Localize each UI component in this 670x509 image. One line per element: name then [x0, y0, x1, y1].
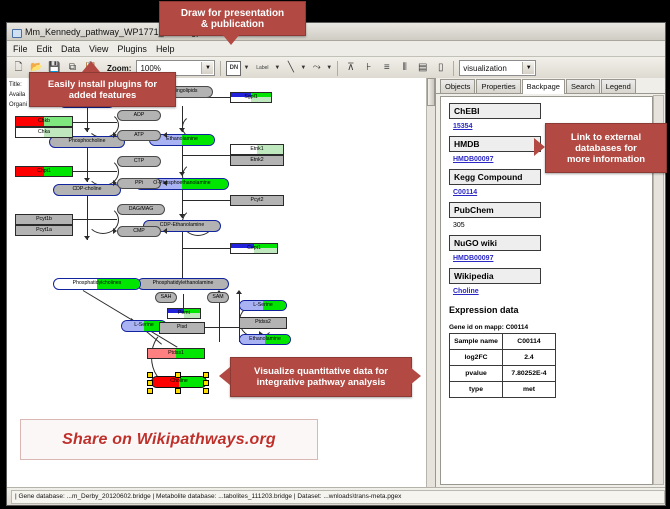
node-gene-pcyt1a[interactable]: Pcyt1a [15, 225, 73, 236]
callout-plugins-line2: added features [69, 90, 137, 101]
edge-pemt-catalysis [183, 294, 184, 308]
stack-center-glyph: ≡ [379, 61, 394, 76]
db-header-pubchem: PubChem [449, 202, 541, 218]
node-gene-pisd[interactable]: Pisd [159, 322, 205, 334]
callout-link-line1: Link to external [571, 132, 641, 143]
node-label: Ethanolamine [166, 137, 198, 142]
node-label: Chka [38, 130, 50, 135]
label-glyph: Label [252, 61, 272, 76]
callout-plugins-pointer [82, 61, 100, 72]
callout-draw-line2: & publication [201, 19, 264, 30]
db-link-kegg-compound[interactable]: C00114 [453, 189, 644, 196]
selection-handle-e[interactable] [203, 380, 209, 386]
app-icon [11, 27, 21, 37]
edge-chpt1-catalysis [73, 171, 117, 172]
node-gene-etnk1[interactable]: Etnk1 [230, 144, 284, 155]
callout-draw-line1: Draw for presentation [181, 8, 284, 19]
menu-help[interactable]: Help [156, 44, 175, 54]
align-left-glyph: ⊦ [361, 61, 376, 76]
stack-center-icon[interactable]: ≡ [379, 61, 394, 76]
statusbar-text: | Gene database: ...m_Derby_20120602.bri… [11, 490, 665, 504]
node-label: Sgpl1 [244, 95, 257, 100]
menubar: File Edit Data View Plugins Help [7, 41, 665, 57]
toolbar-separator-1 [220, 61, 221, 76]
node-ethanolamine-right[interactable]: Ethanolamine [239, 334, 291, 345]
tab-properties[interactable]: Properties [476, 79, 520, 93]
new-file-glyph: 🗋 [11, 61, 26, 76]
node-label: Pemt [178, 311, 190, 316]
node-label: CMP [133, 229, 145, 234]
selection-handle-se[interactable] [203, 388, 209, 394]
tab-objects[interactable]: Objects [440, 79, 475, 93]
node-gene-etnk2[interactable]: Etnk2 [230, 155, 284, 166]
callout-visualize-pointer-right [410, 367, 421, 385]
node-label: Phosphatidylcholines [73, 281, 122, 286]
node-dag-mag[interactable]: DAG/MAG [117, 204, 165, 215]
callout-draw-pointer [222, 34, 240, 45]
node-label: Ptdss2 [255, 320, 271, 325]
canvas-label-organism: Organi [9, 100, 27, 110]
cell-key: log2FC [450, 350, 503, 366]
same-width-icon[interactable]: ▤ [415, 61, 430, 76]
canvas-label-title: Title: [9, 80, 27, 90]
toolbar-separator-3 [453, 61, 454, 76]
node-label: CDP-Ethanolamine [160, 223, 204, 228]
cell-value: 7.80252E-4 [503, 366, 556, 382]
side-panel-tabs: Objects Properties Backpage Search Legen… [436, 78, 665, 94]
node-label: PPi [135, 181, 143, 186]
edge-pcyt2-catalysis [182, 200, 230, 201]
node-label: Etnk1 [250, 147, 263, 152]
node-gene-cept1[interactable]: Cept1 [230, 243, 278, 254]
node-label: Choline [170, 379, 188, 384]
expression-data-table: Sample name C00114 log2FC 2.4 pvalue 7.8… [449, 333, 556, 398]
arrow-into-pe-a [236, 290, 242, 294]
callout-draw: Draw for presentation & publication [159, 1, 306, 36]
db-header-wikipedia: Wikipedia [449, 268, 541, 284]
db-header-nugo-wiki: NuGO wiki [449, 235, 541, 251]
cell-key: Sample name [450, 334, 503, 350]
interaction-glyph: ⤳ [309, 61, 324, 76]
node-gene-ptdss2[interactable]: Ptdss2 [239, 317, 287, 329]
node-adp[interactable]: ADP [117, 110, 161, 121]
line-icon[interactable]: ╲ [283, 61, 298, 76]
chevron-down-icon[interactable]: ▼ [201, 62, 213, 74]
node-label: Etnk2 [250, 158, 263, 163]
node-gene-pcyt1b[interactable]: Pcyt1b [15, 214, 73, 225]
node-gene-pcyt2[interactable]: Pcyt2 [230, 195, 284, 206]
window-titlebar: Mm_Kennedy_pathway_WP1771_45176.gpml [7, 23, 665, 41]
db-header-kegg-compound: Kegg Compound [449, 169, 541, 185]
db-link-nugo-wiki[interactable]: HMDB00097 [453, 255, 644, 262]
callout-visualize-pointer-left [219, 367, 230, 385]
label-dropdown-icon[interactable]: ▼ [274, 65, 280, 71]
line-dropdown-icon[interactable]: ▼ [300, 65, 306, 71]
node-gene-sgpl1[interactable]: Sgpl1 [230, 92, 272, 103]
node-label: DAG/MAG [129, 207, 154, 212]
node-l-serine-right[interactable]: L-Serine [239, 300, 287, 311]
toolbar-separator-2 [337, 61, 338, 76]
selection-handle-sw[interactable] [147, 388, 153, 394]
cell-key: pvalue [450, 366, 503, 382]
arrow-to-atp [113, 132, 117, 138]
menu-edit[interactable]: Edit [37, 44, 53, 54]
edge-pisd-link [203, 327, 241, 328]
align-top-icon[interactable]: ⊼ [343, 61, 358, 76]
node-label: Phosphocholine [69, 139, 106, 144]
cell-value: met [503, 382, 556, 398]
node-gene-chpt1[interactable]: Chpt1 [15, 166, 73, 177]
edge-cept1-catalysis [182, 248, 230, 249]
node-cdp-choline[interactable]: CDP-choline [53, 184, 121, 196]
new-file-icon[interactable]: 🗋 [11, 61, 26, 76]
cell-value: 2.4 [503, 350, 556, 366]
node-label: Phosphatidylethanolamine [153, 281, 214, 286]
callout-link: Link to external databases for more info… [545, 123, 667, 173]
label-icon[interactable]: Label [252, 61, 272, 76]
node-sah[interactable]: SAH [155, 292, 177, 303]
cell-value: C00114 [503, 334, 556, 350]
selection-handle-ne[interactable] [203, 372, 209, 378]
same-width-glyph: ▤ [415, 61, 430, 76]
same-height-glyph: ▯ [433, 61, 448, 76]
datanode-glyph: DN [227, 62, 240, 75]
datanode-icon[interactable]: DN [226, 61, 241, 76]
tab-backpage[interactable]: Backpage [522, 79, 565, 94]
interaction-icon[interactable]: ⤳ [309, 61, 324, 76]
visualization-value: visualization [463, 64, 507, 73]
edge-cdpethnm-pe [182, 232, 183, 284]
node-label: SAM [212, 295, 223, 300]
edge-pcyt1-catalysis [73, 219, 117, 220]
node-label: Pisd [177, 325, 187, 330]
node-label: SAH [161, 295, 172, 300]
table-row: Sample name C00114 [450, 334, 556, 350]
node-label: ATP [134, 133, 144, 138]
node-ctp[interactable]: CTP [117, 156, 161, 167]
node-phosphatidylcholines[interactable]: Phosphatidylcholines [53, 278, 141, 290]
cell-key: type [450, 382, 503, 398]
align-top-glyph: ⊼ [343, 61, 358, 76]
selection-handle-nw[interactable] [147, 372, 153, 378]
selection-handle-s[interactable] [175, 388, 181, 394]
node-label: Pcyt2 [251, 198, 264, 203]
canvas-info-labels: Title: Availa Organi [9, 80, 27, 110]
callout-plugins-text: Easily install plugins for added feature… [42, 76, 163, 104]
canvas-label-availability: Availa [9, 90, 27, 100]
callout-link-line2: databases for [575, 143, 637, 154]
callout-link-text: Link to external databases for more info… [561, 129, 651, 168]
callout-plugins-line1: Easily install plugins for [48, 79, 157, 90]
node-label: ADP [134, 113, 145, 118]
callout-link-pointer [534, 138, 545, 156]
canvas-vertical-scrollbar[interactable] [426, 78, 435, 487]
db-header-chebi: ChEBI [449, 103, 541, 119]
callout-draw-text: Draw for presentation & publication [175, 5, 290, 33]
node-label: Chkb [38, 119, 50, 124]
node-label: CDP-choline [72, 187, 101, 192]
selection-handle-n[interactable] [175, 372, 181, 378]
node-label: L-Serine [134, 323, 154, 328]
node-cmp[interactable]: CMP [117, 226, 161, 237]
statusbar: | Gene database: ...m_Derby_20120602.bri… [7, 487, 665, 505]
node-label: Pcyt1a [36, 228, 52, 233]
node-gene-chka[interactable]: Chka [15, 127, 73, 138]
visualization-combobox[interactable]: visualization ▼ [459, 60, 536, 76]
callout-visualize: Visualize quantitative data for integrat… [230, 357, 412, 397]
callout-plugins: Easily install plugins for added feature… [29, 72, 176, 107]
expression-data-title: Expression data [449, 305, 644, 315]
tab-legend[interactable]: Legend [601, 79, 636, 93]
arrow-cdpcholine-pc [84, 236, 90, 240]
selection-handle-w[interactable] [147, 380, 153, 386]
arrow-to-cmp [113, 228, 117, 234]
screenshot-root: Mm_Kennedy_pathway_WP1771_45176.gpml Fil… [0, 0, 670, 509]
menu-file[interactable]: File [13, 44, 28, 54]
node-label: Ptdss1 [168, 351, 184, 356]
node-gene-chkb[interactable]: Chkb [15, 116, 73, 127]
arrow-to-ppi [113, 180, 117, 186]
gene-id-on-mapp: Gene id on mapp: C00114 [449, 324, 644, 331]
table-row: type met [450, 382, 556, 398]
menu-data[interactable]: Data [61, 44, 80, 54]
node-gene-pemt[interactable]: Pemt [167, 308, 201, 319]
table-row: log2FC 2.4 [450, 350, 556, 366]
table-row: pvalue 7.80252E-4 [450, 366, 556, 382]
node-phosphatidylethanolamine[interactable]: Phosphatidylethanolamine [137, 278, 229, 290]
db-value-pubchem: 305 [453, 222, 644, 229]
node-label: Chpt1 [37, 169, 51, 174]
node-label: L-Serine [253, 303, 273, 308]
callout-visualize-text: Visualize quantitative data for integrat… [248, 363, 394, 391]
interaction-dropdown-icon[interactable]: ▼ [326, 65, 332, 71]
db-link-wikipedia[interactable]: Choline [453, 288, 644, 295]
callout-visualize-line1: Visualize quantitative data for [254, 366, 388, 377]
node-sam[interactable]: SAM [207, 292, 229, 303]
chevron-down-icon[interactable]: ▼ [522, 62, 534, 74]
share-banner-text: Share on Wikipathways.org [62, 431, 276, 449]
same-height-icon[interactable]: ▯ [433, 61, 448, 76]
node-label: O-Phosphoethanolamine [153, 181, 210, 186]
distribute-glyph: ⫴ [397, 61, 412, 76]
edge-chk-catalysis [73, 122, 117, 123]
tab-search[interactable]: Search [566, 79, 600, 93]
node-label: Cept1 [247, 246, 261, 251]
align-left-icon[interactable]: ⊦ [361, 61, 376, 76]
menu-plugins[interactable]: Plugins [117, 44, 147, 54]
distribute-icon[interactable]: ⫴ [397, 61, 412, 76]
node-label: Ethanolamine [249, 337, 281, 342]
node-atp[interactable]: ATP [117, 130, 161, 141]
db-header-hmdb: HMDB [449, 136, 541, 152]
canvas-scroll-thumb[interactable] [427, 78, 435, 106]
node-gene-ptdss1[interactable]: Ptdss1 [147, 348, 205, 359]
line-glyph: ╲ [283, 61, 298, 76]
callout-visualize-line2: integrative pathway analysis [257, 377, 386, 388]
datanode-dropdown-icon[interactable]: ▼ [243, 65, 249, 71]
edge-etnk-catalysis [182, 155, 230, 156]
menu-view[interactable]: View [89, 44, 108, 54]
node-label: CTP [134, 159, 144, 164]
arrow-cmp-right [163, 228, 167, 234]
node-label: Pcyt1b [36, 217, 52, 222]
share-banner: Share on Wikipathways.org [20, 419, 318, 460]
callout-link-line3: more information [567, 154, 645, 165]
